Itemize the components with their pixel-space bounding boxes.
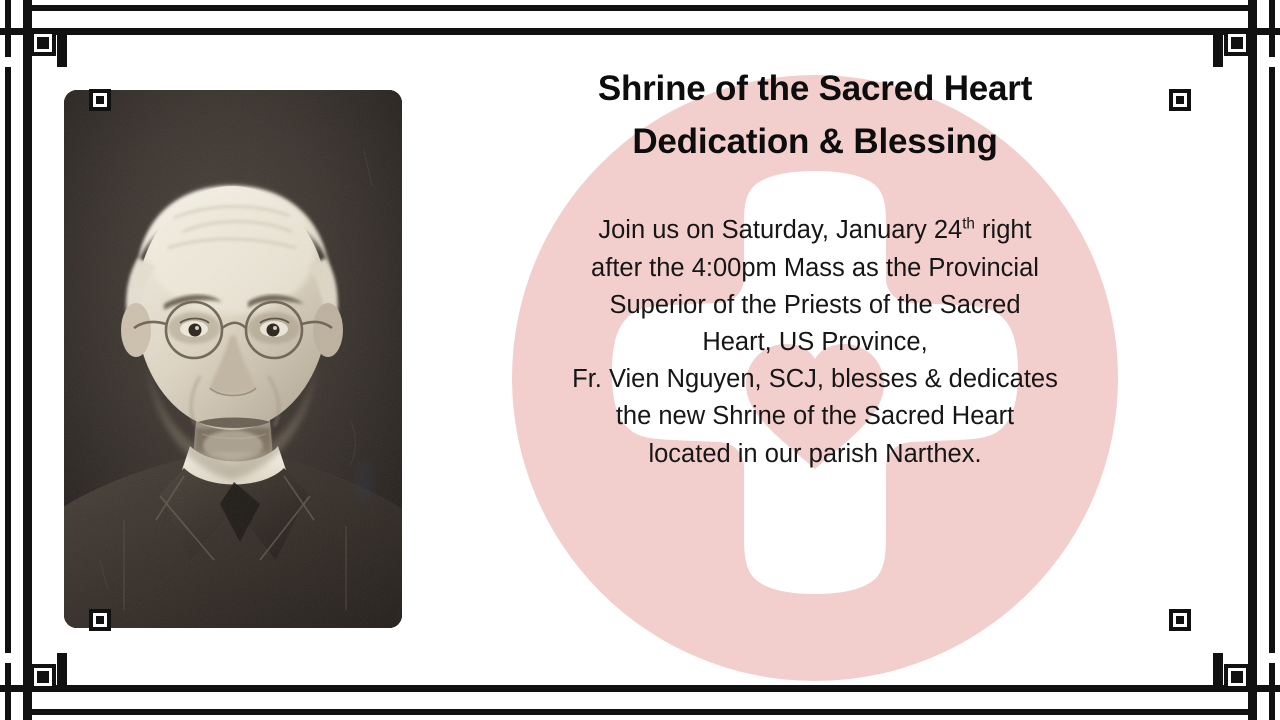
frame-rule-left-inner <box>23 0 32 720</box>
title-line-2: Dedication & Blessing <box>522 115 1108 168</box>
notch-tl-g <box>0 57 23 67</box>
body-line-3: Superior of the Priests of the Sacred <box>522 287 1108 324</box>
frame-stud-bottom-right-outer <box>1224 664 1250 690</box>
notch-tl-d <box>11 11 23 28</box>
body-line-1-pre: Join us on Saturday, January 24 <box>598 216 962 244</box>
ordinal-suffix: th <box>962 216 975 233</box>
notch-bl-f <box>11 663 23 685</box>
notch-tl-f <box>11 35 23 57</box>
notch-br-c <box>1193 715 1248 720</box>
notch-br-e <box>1275 663 1280 685</box>
notch-bl-b <box>11 692 23 720</box>
body-text: Join us on Saturday, January 24th right … <box>522 212 1108 473</box>
frame-stud-top-right-outer <box>1224 30 1250 56</box>
body-line-4: Heart, US Province, <box>522 324 1108 361</box>
notch-br-a <box>1275 692 1280 720</box>
notch-tr-g <box>1257 57 1280 67</box>
frame-rule-bottom-outer <box>0 709 1280 715</box>
notch-bl-a <box>0 692 5 720</box>
body-line-2: after the 4:00pm Mass as the Provincial <box>522 250 1108 287</box>
frame-stud-bottom-right-inner <box>1169 609 1191 631</box>
notch-br-d <box>1257 692 1269 709</box>
body-line-5: Fr. Vien Nguyen, SCJ, blesses & dedicate… <box>522 361 1108 398</box>
notch-bl-d <box>11 692 23 709</box>
frame-rule-top-inner <box>0 28 1280 35</box>
frame-tl-tie-2 <box>57 28 67 67</box>
body-line-6: the new Shrine of the Sacred Heart <box>522 398 1108 435</box>
notch-tr-f <box>1257 35 1269 57</box>
notch-tr-a <box>1275 0 1280 28</box>
notch-bl-g <box>0 653 23 663</box>
priest-portrait-photo <box>64 90 402 628</box>
notch-tr-b <box>1257 0 1269 28</box>
frame-rule-right-inner <box>1248 0 1257 720</box>
frame-br-tie-2 <box>1213 653 1223 692</box>
notch-br-g <box>1257 653 1280 663</box>
notch-tl-h <box>32 57 68 67</box>
frame-rule-top-outer <box>0 5 1280 11</box>
frame-bl-tie-1 <box>0 685 5 692</box>
frame-stud-top-left-outer <box>30 30 56 56</box>
frame-tr-tie-1 <box>1275 28 1280 35</box>
frame-bl-tie-2 <box>57 653 67 692</box>
notch-br-f <box>1257 663 1269 685</box>
frame-tl-tie-1 <box>0 28 5 35</box>
frame-rule-bottom-inner <box>0 685 1280 692</box>
frame-stud-top-right-inner <box>1169 89 1191 111</box>
frame-br-tie-1 <box>1275 685 1280 692</box>
notch-tr-c <box>1193 0 1248 5</box>
notch-tl-a <box>0 0 5 28</box>
body-line-7: located in our parish Narthex. <box>522 436 1108 473</box>
frame-stud-bottom-left-outer <box>30 664 56 690</box>
notch-tr-h <box>1212 57 1248 67</box>
body-line-1-post: right <box>975 216 1032 244</box>
notch-tl-e <box>0 35 5 57</box>
page-title: Shrine of the Sacred Heart Dedication & … <box>522 62 1108 168</box>
body-line-1: Join us on Saturday, January 24th right <box>522 212 1108 249</box>
frame-rule-left-outer <box>5 0 11 720</box>
notch-bl-e <box>0 663 5 685</box>
notch-tl-b <box>11 0 23 28</box>
frame-rule-right-outer <box>1269 0 1275 720</box>
notch-tr-e <box>1275 35 1280 57</box>
announcement-text: Shrine of the Sacred Heart Dedication & … <box>522 62 1108 473</box>
notch-bl-h <box>32 653 68 663</box>
notch-br-b <box>1257 692 1269 720</box>
title-line-1: Shrine of the Sacred Heart <box>522 62 1108 115</box>
poster-canvas: Shrine of the Sacred Heart Dedication & … <box>0 0 1280 720</box>
frame-tr-tie-2 <box>1213 28 1223 67</box>
notch-tr-d <box>1257 11 1269 28</box>
notch-bl-c <box>32 715 87 720</box>
notch-tl-c <box>32 0 87 5</box>
notch-br-h <box>1212 653 1248 663</box>
